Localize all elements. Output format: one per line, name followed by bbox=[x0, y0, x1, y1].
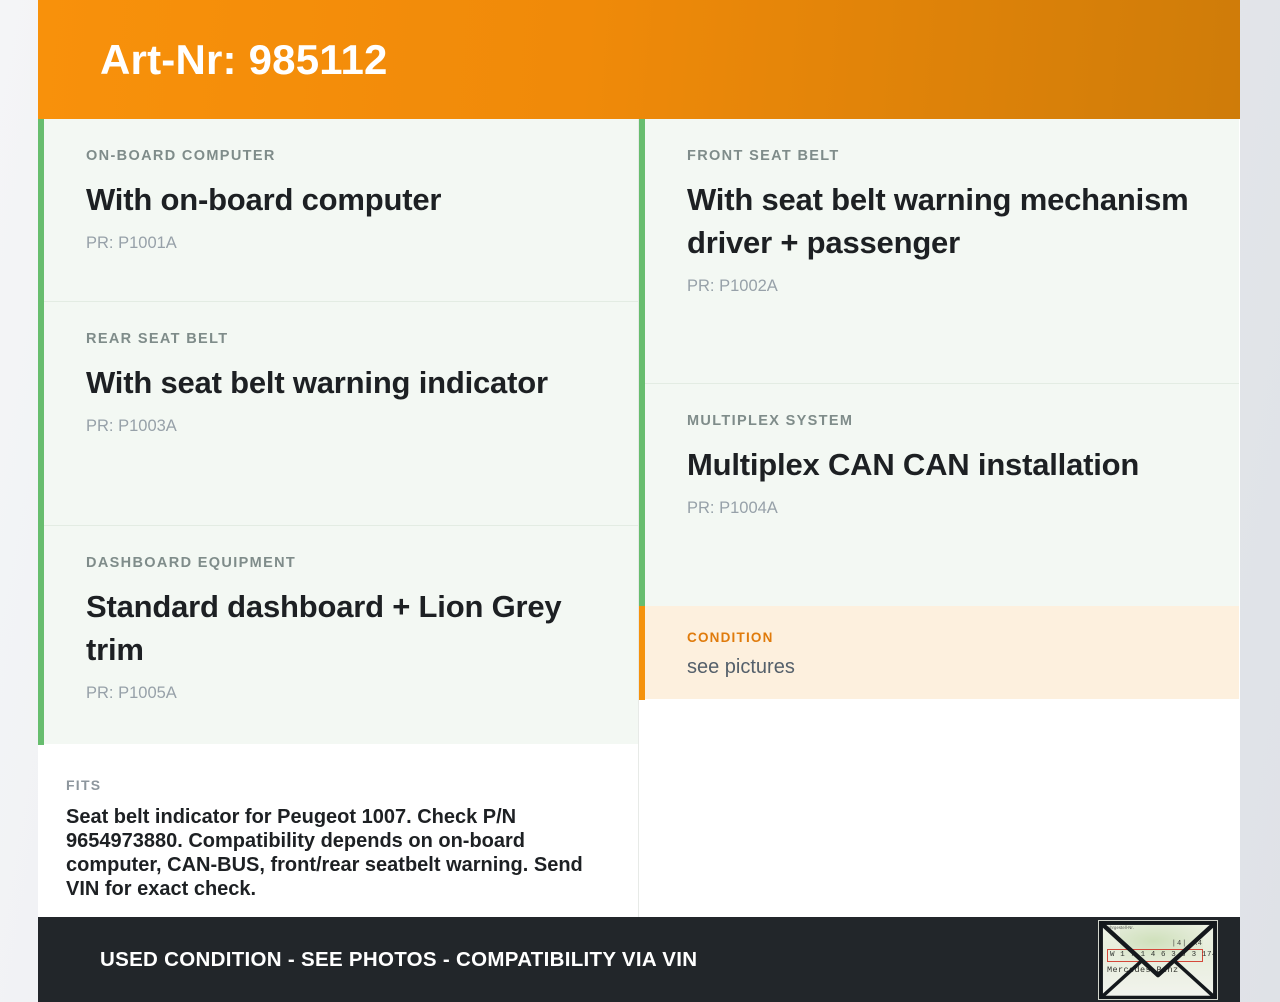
spec-card-label: On-board computer bbox=[86, 149, 592, 164]
spec-columns: On-board computer With on-board computer… bbox=[38, 119, 1240, 917]
condition-label: Condition bbox=[687, 631, 1193, 645]
fits-label: Fits bbox=[66, 778, 592, 792]
vin-document-thumbnail[interactable]: Fahrgestell-Nr. |4| A4 W 1 7 1 4 6 3 J 3… bbox=[1098, 920, 1218, 1000]
fits-section: Fits Seat belt indicator for Peugeot 100… bbox=[38, 744, 638, 927]
spec-card[interactable]: Multiplex system Multiplex CAN CAN insta… bbox=[639, 384, 1239, 606]
spec-card-pr: PR: P1005A bbox=[86, 685, 592, 702]
spec-card-label: Front seat belt bbox=[687, 149, 1193, 164]
header-bar: Art-Nr: 985112 bbox=[38, 0, 1240, 119]
spec-column-right: Front seat belt With seat belt warning m… bbox=[639, 119, 1239, 917]
spec-card-title: With seat belt warning mechanism driver … bbox=[687, 178, 1193, 265]
fits-text: Seat belt indicator for Peugeot 1007. Ch… bbox=[66, 805, 592, 901]
footer-text: USED CONDITION - SEE PHOTOS - COMPATIBIL… bbox=[100, 948, 697, 972]
spec-card-pr: PR: P1001A bbox=[86, 235, 592, 252]
spec-card-label: Dashboard equipment bbox=[86, 556, 592, 571]
spec-card-title: With on-board computer bbox=[86, 178, 592, 221]
spec-column-left: On-board computer With on-board computer… bbox=[38, 119, 639, 917]
spec-card[interactable]: Front seat belt With seat belt warning m… bbox=[639, 119, 1239, 384]
spec-card[interactable]: Rear seat belt With seat belt warning in… bbox=[38, 302, 638, 526]
spec-card-pr: PR: P1003A bbox=[86, 418, 592, 435]
spec-card-title: Standard dashboard + Lion Grey trim bbox=[86, 585, 592, 672]
product-spec-card: Art-Nr: 985112 On-board computer With on… bbox=[38, 0, 1240, 1002]
page-title: Art-Nr: 985112 bbox=[100, 39, 388, 81]
spec-card[interactable]: On-board computer With on-board computer… bbox=[38, 119, 638, 302]
spec-card-pr: PR: P1002A bbox=[687, 278, 1193, 295]
condition-value: see pictures bbox=[687, 654, 1193, 680]
spec-card[interactable]: Dashboard equipment Standard dashboard +… bbox=[38, 526, 638, 744]
spec-card-title: Multiplex CAN CAN installation bbox=[687, 443, 1193, 486]
spec-card-label: Multiplex system bbox=[687, 414, 1193, 429]
envelope-icon bbox=[1099, 921, 1217, 1000]
spec-card-pr: PR: P1004A bbox=[687, 500, 1193, 517]
condition-card[interactable]: Condition see pictures bbox=[639, 606, 1239, 699]
spec-card-label: Rear seat belt bbox=[86, 332, 592, 347]
footer-bar: USED CONDITION - SEE PHOTOS - COMPATIBIL… bbox=[38, 917, 1240, 1002]
spec-card-title: With seat belt warning indicator bbox=[86, 361, 592, 404]
